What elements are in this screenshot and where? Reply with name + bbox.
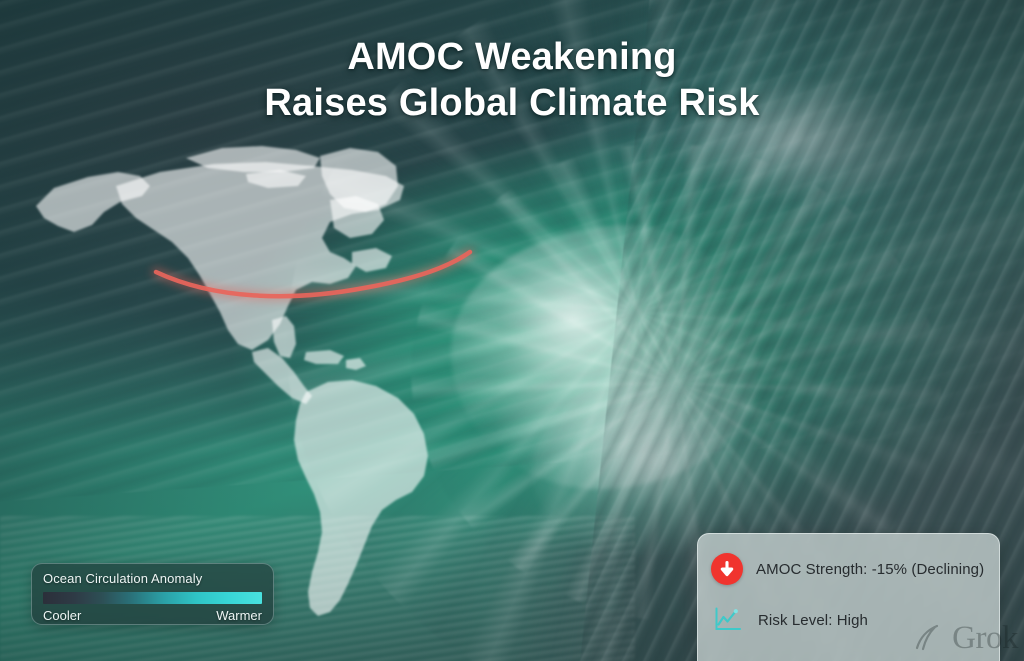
metrics-panel: AMOC Strength: -15% (Declining) Risk Lev… [697, 533, 1000, 661]
infographic-canvas: AMOC Weakening Raises Global Climate Ris… [0, 0, 1024, 661]
legend-max-label: Warmer [216, 608, 262, 623]
metric-risk-level-text: Risk Level: High [758, 611, 868, 630]
legend-gradient-bar [43, 592, 262, 604]
legend-min-label: Cooler [43, 608, 81, 623]
line-chart-icon [711, 604, 745, 636]
legend-panel: Ocean Circulation Anomaly Cooler Warmer [31, 563, 274, 625]
legend-title: Ocean Circulation Anomaly [43, 571, 262, 587]
metric-row-risk-level: Risk Level: High [711, 598, 985, 642]
metric-amoc-strength-text: AMOC Strength: -15% (Declining) [756, 560, 984, 579]
landmass-americas [36, 146, 428, 616]
metric-row-amoc-strength: AMOC Strength: -15% (Declining) [711, 547, 985, 591]
down-arrow-circle-icon [711, 553, 743, 585]
legend-scale-labels: Cooler Warmer [43, 608, 262, 623]
